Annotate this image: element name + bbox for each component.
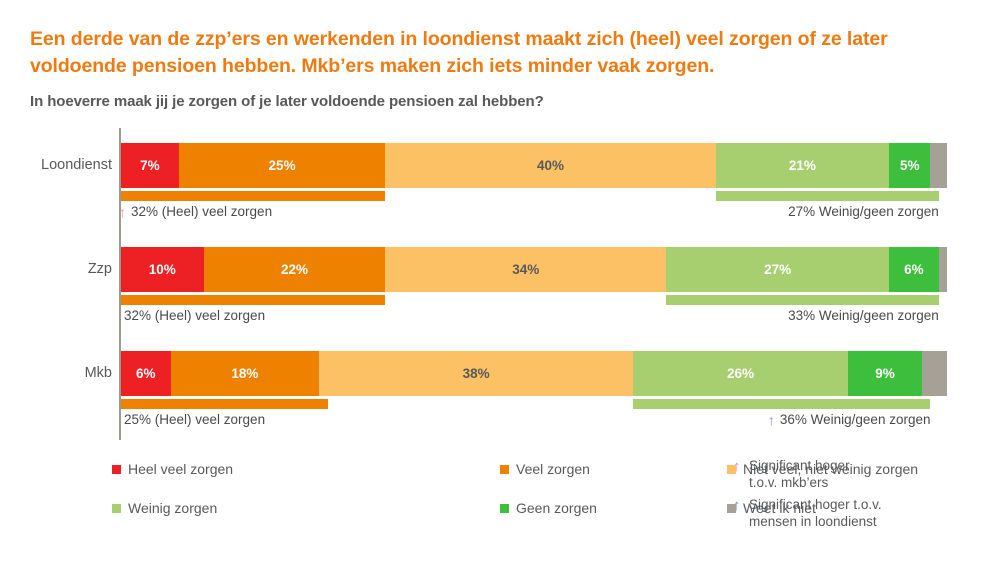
significance-legend-text: Significant hogert.o.v. mkb’ers (749, 457, 850, 491)
summary-label-text: 33% Weinig/geen zorgen (788, 308, 939, 323)
bar-segment[interactable]: 6% (121, 351, 171, 396)
stacked-bar: 6%18%38%26%9% (121, 351, 947, 396)
legend-item[interactable]: Veel zorgen (500, 460, 590, 479)
bar-segment[interactable]: 26% (633, 351, 848, 396)
bar-segment[interactable]: 40% (385, 143, 715, 188)
summary-label-text: 27% Weinig/geen zorgen (788, 204, 939, 219)
summary-label-right: 33% Weinig/geen zorgen (788, 308, 939, 323)
summary-bar-left (121, 191, 385, 201)
bar-segment[interactable]: 6% (889, 247, 939, 292)
significance-up-arrow-icon: ↑ (733, 458, 743, 475)
summary-label-right: 27% Weinig/geen zorgen (788, 204, 939, 219)
category-label-mkb: Mkb (85, 365, 112, 381)
legend-swatch-icon (112, 504, 121, 513)
page-title: Een derde van de zzp’ers en werkenden in… (30, 26, 950, 80)
summary-bar-right (716, 191, 939, 201)
summary-label-text: 36% Weinig/geen zorgen (780, 412, 931, 427)
significance-legend-item: ↑Significant hoger t.o.v.mensen in loond… (733, 496, 882, 530)
summary-bar-left (121, 295, 385, 305)
significance-line-1: Significant hoger (749, 457, 850, 474)
legend-item[interactable]: Weinig zorgen (112, 499, 217, 518)
summary-bar-right (666, 295, 939, 305)
bar-segment[interactable]: 27% (666, 247, 889, 292)
bar-segment[interactable]: 10% (121, 247, 204, 292)
summary-label-left: 25% (Heel) veel zorgen (124, 412, 265, 427)
legend-label: Veel zorgen (516, 460, 590, 479)
legend-item[interactable]: Geen zorgen (500, 499, 597, 518)
category-label-zzp: Zzp (88, 261, 112, 277)
legend-swatch-icon (500, 504, 509, 513)
significance-line-2: mensen in loondienst (749, 513, 882, 530)
bar-segment[interactable]: 25% (179, 143, 386, 188)
bar-segment[interactable] (930, 143, 947, 188)
significance-up-arrow-icon: ↑ (768, 413, 777, 427)
summary-label-text: 32% (Heel) veel zorgen (124, 308, 265, 323)
legend-label: Weinig zorgen (128, 499, 217, 518)
stacked-bar-chart: Loondienst7%25%40%21%5%↑32% (Heel) veel … (0, 128, 1000, 448)
bar-segment[interactable]: 21% (716, 143, 889, 188)
significance-legend-text: Significant hoger t.o.v.mensen in loondi… (749, 496, 882, 530)
bar-segment[interactable] (922, 351, 947, 396)
significance-line-1: Significant hoger t.o.v. (749, 496, 882, 513)
summary-label-left: ↑32% (Heel) veel zorgen (119, 204, 272, 219)
summary-label-text: 32% (Heel) veel zorgen (131, 204, 272, 219)
bar-segment[interactable]: 34% (385, 247, 666, 292)
bar-segment[interactable]: 9% (848, 351, 922, 396)
bar-segment[interactable]: 22% (204, 247, 386, 292)
bar-segment[interactable]: 38% (319, 351, 633, 396)
stacked-bar: 7%25%40%21%5% (121, 143, 947, 188)
bar-segment[interactable]: 18% (171, 351, 320, 396)
significance-up-arrow-icon: ↑ (119, 205, 128, 219)
legend-swatch-icon (500, 465, 509, 474)
stacked-bar: 10%22%34%27%6% (121, 247, 947, 292)
summary-bar-left (121, 399, 328, 409)
legend-swatch-icon (112, 465, 121, 474)
bar-segment[interactable]: 7% (121, 143, 179, 188)
summary-label-right: ↑36% Weinig/geen zorgen (768, 412, 931, 427)
significance-legend-item: ↑Significant hogert.o.v. mkb’ers (733, 457, 850, 491)
significance-line-2: t.o.v. mkb’ers (749, 474, 850, 491)
page-subtitle: In hoeverre maak jij je zorgen of je lat… (30, 92, 950, 112)
chart-legend: Heel veel zorgenVeel zorgenNiet veel, ni… (0, 455, 1000, 555)
legend-label: Heel veel zorgen (128, 460, 233, 479)
legend-label: Geen zorgen (516, 499, 597, 518)
category-label-loondienst: Loondienst (41, 157, 112, 173)
slide: Een derde van de zzp’ers en werkenden in… (0, 0, 1000, 563)
legend-item[interactable]: Heel veel zorgen (112, 460, 233, 479)
bar-segment[interactable]: 5% (889, 143, 930, 188)
bar-segment[interactable] (939, 247, 947, 292)
summary-bar-right (633, 399, 930, 409)
significance-up-arrow-icon: ↑ (733, 497, 743, 514)
summary-label-left: 32% (Heel) veel zorgen (124, 308, 265, 323)
summary-label-text: 25% (Heel) veel zorgen (124, 412, 265, 427)
